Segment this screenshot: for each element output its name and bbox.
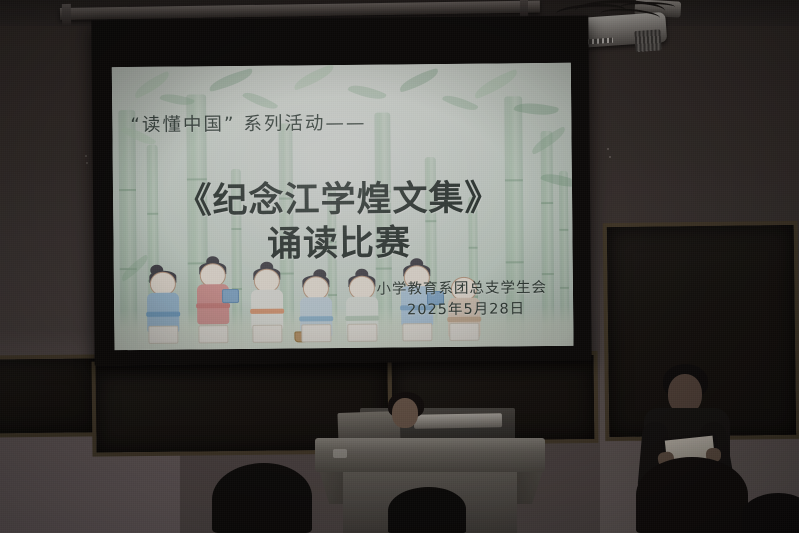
projection-screen-surface: “读懂中国” 系列活动—— 《纪念江学煌文集》 诵读比赛 小学教育系团总支学生会…: [112, 63, 574, 350]
slide-date: 2025年5月28日: [407, 297, 525, 319]
projection-screen[interactable]: “读懂中国” 系列活动—— 《纪念江学煌文集》 诵读比赛 小学教育系团总支学生会…: [91, 16, 591, 366]
slide-child-figure: [250, 269, 285, 343]
bamboo-leaf: [207, 68, 255, 92]
head: [392, 398, 418, 428]
slide-child-figure: [196, 263, 231, 343]
slide-child-figure: [346, 276, 379, 342]
slide-organization: 小学教育系团总支学生会: [376, 276, 547, 299]
classroom-scene: “读懂中国” 系列活动—— 《纪念江学煌文集》 诵读比赛 小学教育系团总支学生会…: [0, 0, 799, 533]
lectern-logo: [333, 449, 347, 458]
audience-head: [388, 487, 466, 533]
presentation-slide: “读懂中国” 系列活动—— 《纪念江学煌文集》 诵读比赛 小学教育系团总支学生会…: [112, 63, 574, 350]
projector-vent: [634, 29, 661, 52]
wall-mark: [607, 148, 609, 150]
audience-head: [636, 457, 748, 533]
slide-child-figure: [300, 276, 333, 342]
bamboo-leaf: [442, 91, 479, 115]
audience-head: [212, 463, 312, 533]
bamboo-leaf: [291, 64, 336, 91]
person-at-lectern: [386, 392, 428, 440]
lectern-desktop: [315, 438, 545, 472]
bamboo-leaf: [347, 80, 386, 104]
screen-bracket-left: [62, 4, 71, 26]
chalkboard-far-left: [0, 354, 100, 437]
bamboo-leaf: [397, 68, 441, 93]
slide-kicker-text: “读懂中国” 系列活动——: [130, 109, 366, 137]
projector-cable: [620, 2, 675, 12]
bamboo-leaf: [471, 69, 520, 99]
slide-title-line2: 诵读比赛: [113, 213, 564, 268]
wall-mark: [609, 156, 611, 158]
wall-mark: [85, 155, 87, 157]
wall-mark: [86, 162, 88, 164]
slide-child-figure: [146, 272, 181, 344]
